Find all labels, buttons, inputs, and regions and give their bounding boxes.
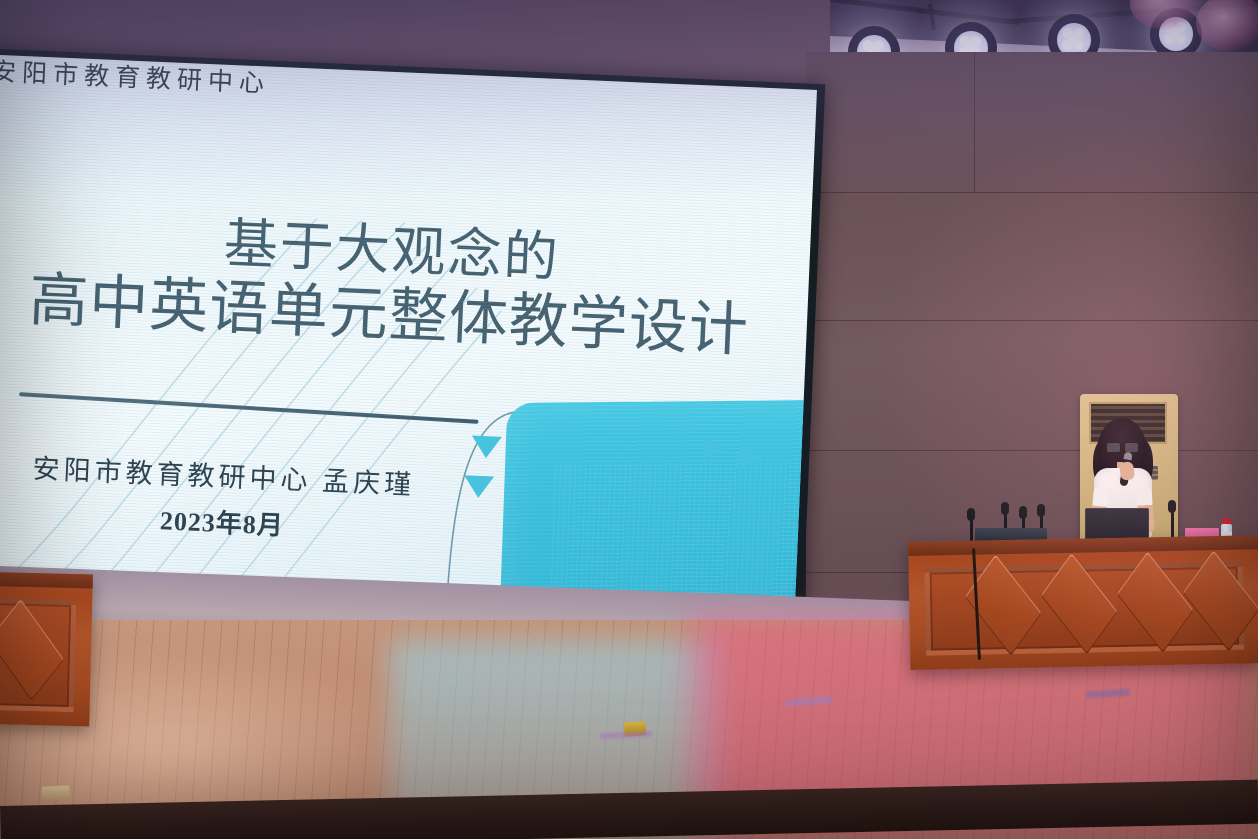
wall-seam-2: [806, 320, 1258, 321]
floor-debris-paper-left: [42, 785, 71, 799]
podium-desk-left: [0, 570, 93, 726]
mic-3-head: [1019, 506, 1027, 519]
slide-divider-line: [19, 392, 478, 424]
presenter-glasses-icon: [1106, 442, 1139, 451]
mic-2-head: [1001, 502, 1009, 515]
auditorium-scene: 基于大观念的 高中英语单元整体教学设计 安阳市教育教研中心 孟庆瑾 2023年8…: [0, 0, 1258, 839]
podium-left-diamond-2: [0, 599, 64, 701]
wall-seam-vertical: [974, 52, 975, 192]
slide-surface: 基于大观念的 高中英语单元整体教学设计 安阳市教育教研中心 孟庆瑾 2023年8…: [0, 54, 817, 619]
presenter-hand: [1119, 461, 1135, 481]
led-presentation-screen[interactable]: 基于大观念的 高中英语单元整体教学设计 安阳市教育教研中心 孟庆瑾 2023年8…: [0, 48, 825, 629]
podium-left-panel: [0, 596, 76, 712]
slide-date-line: 2023年8月: [21, 494, 422, 548]
podium-diamond-2: [1041, 553, 1118, 654]
mic-5-head: [1168, 500, 1176, 513]
slide-arrow-down-2: [463, 475, 494, 498]
wall-seam-3: [806, 450, 1258, 451]
podium-right-panel: [924, 562, 1244, 656]
slide-arrow-right-1: [703, 435, 726, 460]
mic-1-head: [967, 508, 975, 521]
podium-diamond-4: [1183, 550, 1258, 651]
podium-diamond-3: [1117, 552, 1194, 653]
slide-arrow-right-2: [740, 445, 763, 470]
slide-arrow-down-1: [471, 436, 502, 459]
podium-body-right: [908, 535, 1258, 670]
wall-seam-1: [806, 192, 1258, 193]
mic-4-head: [1037, 504, 1045, 517]
